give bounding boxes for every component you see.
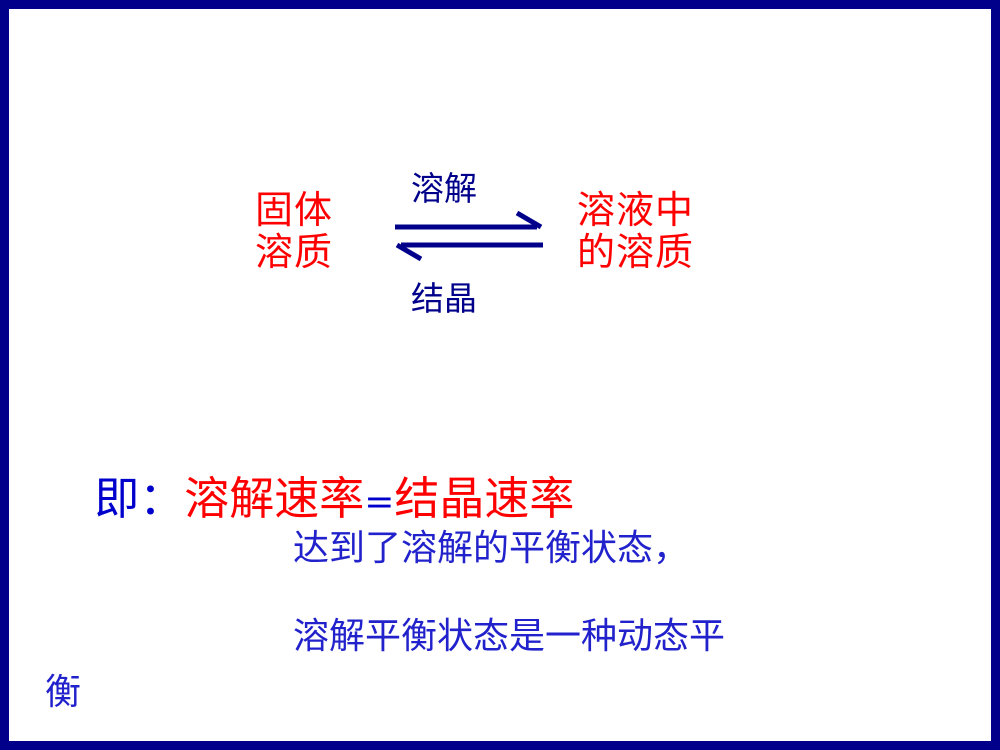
rate-line-equals: = (364, 482, 394, 523)
paragraph-line-1: 达到了溶解的平衡状态， (293, 529, 689, 569)
equilibrium-double-arrow-icon (391, 211, 551, 275)
equation-reverse-label: 结晶 (411, 281, 477, 317)
paragraph-line-2: 溶解平衡状态是一种动态平 (293, 617, 725, 657)
equilibrium-equation: 固体 溶质 溶解 结晶 溶液中 的溶质 (219, 159, 799, 349)
rate-line-prefix: 即： (94, 472, 184, 525)
paragraph-line-3: 衡 (45, 673, 81, 713)
rate-line-right: 结晶速率 (394, 472, 574, 525)
equation-forward-label: 溶解 (411, 171, 477, 207)
equation-left-term: 固体 溶质 (239, 189, 349, 273)
slide-canvas: 固体 溶质 溶解 结晶 溶液中 的溶质 即：溶解速率=结晶速率 达到了溶解的平衡… (0, 0, 1000, 750)
equation-right-term: 溶液中 的溶质 (577, 189, 757, 273)
rate-line-left: 溶解速率 (184, 472, 364, 525)
